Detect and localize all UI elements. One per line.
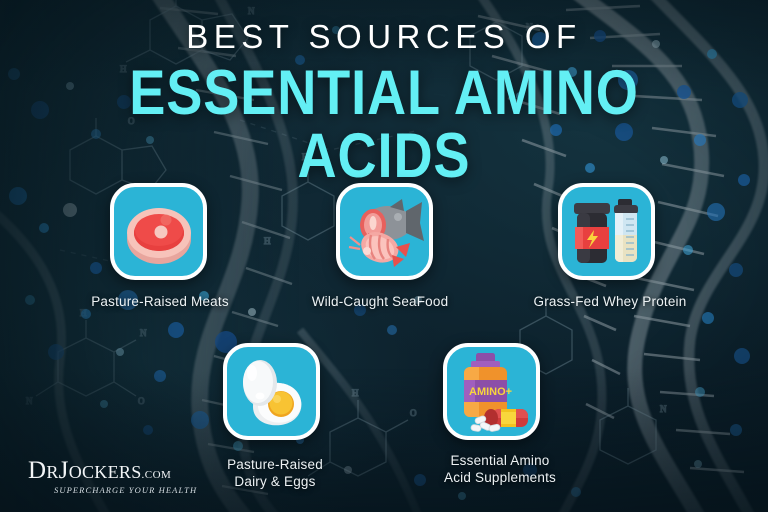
fish-shrimp-icon [340, 187, 429, 276]
supplement-bottle-label: AMINO+ [469, 386, 512, 398]
logo-domain: .COM [142, 469, 172, 481]
eggs-icon [227, 347, 316, 436]
supplement-bottles-icon: AMINO+ [447, 347, 536, 436]
brand-logo-wordmark: DRJOCKERS.COM [28, 458, 198, 488]
source-tile-meats[interactable] [110, 183, 207, 280]
logo-j: J [59, 457, 69, 484]
kicker-text: BEST SOURCES OF [0, 20, 768, 53]
source-tile-whey[interactable] [558, 183, 655, 280]
logo-ockers: OCKERS [69, 462, 142, 482]
infographic-poster: H N H N O N O H O N [0, 0, 768, 512]
caption-whey: Grass-Fed Whey Protein [485, 293, 735, 310]
logo-d: D [28, 457, 46, 484]
caption-supplements-line2: Acid Supplements [380, 469, 620, 486]
brand-tagline: SUPERCHARGE YOUR HEALTH [54, 485, 198, 495]
caption-supplements: Essential Amino Acid Supplements [380, 452, 620, 486]
logo-r: R [46, 462, 58, 482]
source-tile-supplements[interactable]: AMINO+ [443, 343, 540, 440]
protein-tub-shaker-icon [562, 187, 651, 276]
page-title: ESSENTIAL AMINO ACIDS [54, 62, 714, 188]
caption-supplements-line1: Essential Amino [380, 452, 620, 469]
brand-logo[interactable]: DRJOCKERS.COM SUPERCHARGE YOUR HEALTH [28, 458, 198, 495]
caption-seafood: Wild-Caught SeaFood [255, 293, 505, 310]
source-tile-seafood[interactable] [336, 183, 433, 280]
source-tile-dairy-eggs[interactable] [223, 343, 320, 440]
headline-block: BEST SOURCES OF ESSENTIAL AMINO ACIDS [0, 0, 768, 188]
steak-icon [114, 187, 203, 276]
